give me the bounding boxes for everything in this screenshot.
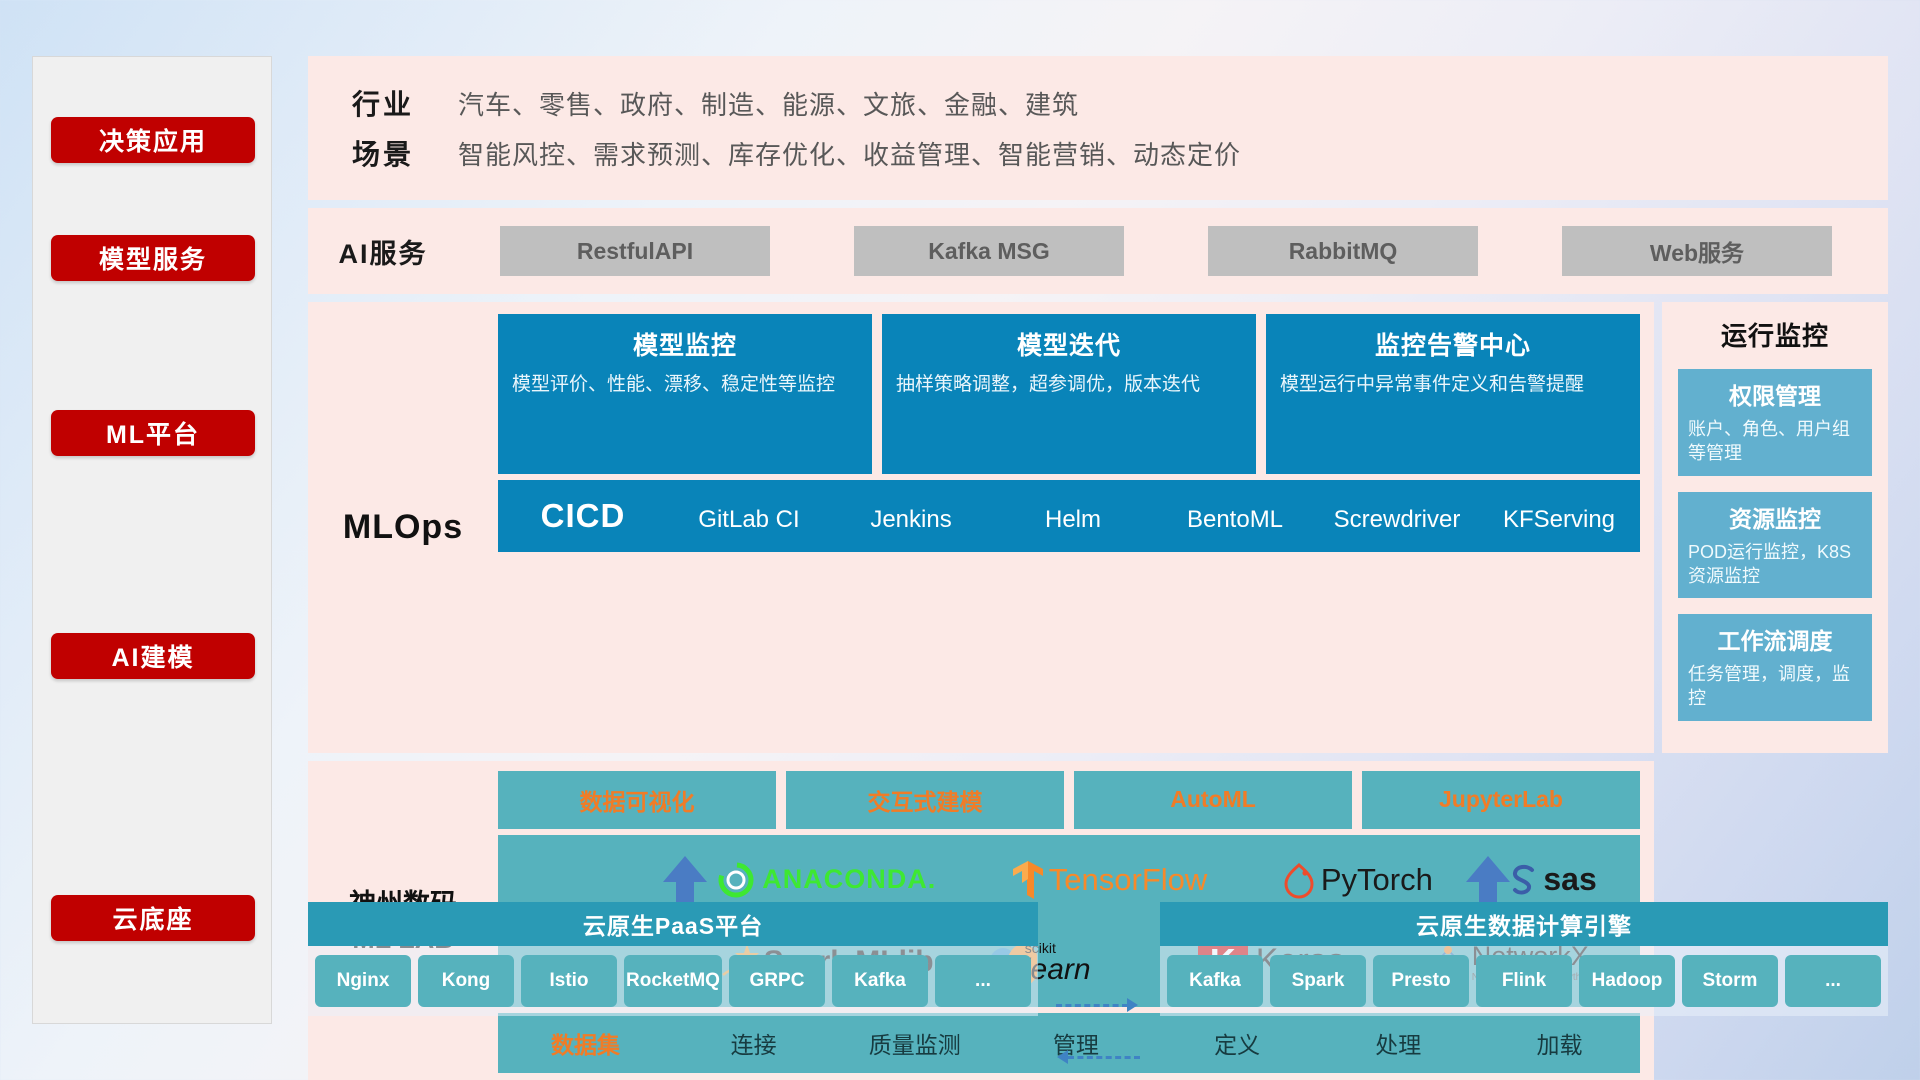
band-cloud-foundation: 云原生PaaS平台 Nginx Kong Istio RocketMQ GRPC… [308,856,1888,1026]
dataset-label: 数据集 [498,1026,673,1060]
engine-chip-kafka[interactable]: Kafka [1167,955,1263,1007]
mlops-label: MLOps [308,314,498,741]
cicd-item-screwdriver[interactable]: Screwdriver [1316,505,1478,535]
ai-service-chip-track: RestfulAPI Kafka MSG RabbitMQ Web服务 [458,226,1888,276]
dataset-item-connect[interactable]: 连接 [673,1026,834,1060]
rail-chip-ml-platform[interactable]: ML平台 [51,410,255,456]
engine-chip-track: Kafka Spark Presto Flink Hadoop Storm ..… [1160,946,1888,1016]
dataset-item-load[interactable]: 加载 [1479,1026,1640,1060]
dash-connector-left [1068,1056,1140,1059]
rail-chip-label: 模型服务 [99,240,207,276]
mlops-card-row: 模型监控 模型评价、性能、漂移、稳定性等监控 模型迭代 抽样策略调整，超参调优，… [498,314,1640,474]
ai-service-chip-restfulapi[interactable]: RestfulAPI [500,226,770,276]
engine-chip-more[interactable]: ... [1785,955,1881,1007]
monitor-card-resource[interactable]: 资源监控 POD运行监控，K8S资源监控 [1678,492,1872,599]
ml-lab-tool-row: 数据可视化 交互式建模 AutoML JupyterLab [498,771,1640,829]
cloud-group-paas: 云原生PaaS平台 Nginx Kong Istio RocketMQ GRPC… [308,902,1038,1016]
band-mlops: MLOps 模型监控 模型评价、性能、漂移、稳定性等监控 模型迭代 抽样策略调整… [308,302,1654,753]
card-desc: 账户、角色、用户组等管理 [1688,417,1862,466]
paas-chip-more[interactable]: ... [935,955,1031,1007]
cloud-group-engine: 云原生数据计算引擎 Kafka Spark Presto Flink Hadoo… [1160,902,1888,1016]
monitor-card-workflow[interactable]: 工作流调度 任务管理，调度，监控 [1678,614,1872,721]
paas-chip-nginx[interactable]: Nginx [315,955,411,1007]
band-ai-service: AI服务 RestfulAPI Kafka MSG RabbitMQ Web服务 [308,208,1888,294]
dataset-item-quality[interactable]: 质量监测 [834,1026,995,1060]
lab-tool-jupyterlab[interactable]: JupyterLab [1362,771,1640,829]
chip-label: RestfulAPI [577,238,693,265]
band-runtime-monitoring: 运行监控 权限管理 账户、角色、用户组等管理 资源监控 POD运行监控，K8S资… [1662,302,1888,753]
rail-chip-decision[interactable]: 决策应用 [51,117,255,163]
lab-tool-interactive-modeling[interactable]: 交互式建模 [786,771,1064,829]
ai-service-chip-web-service[interactable]: Web服务 [1562,226,1832,276]
paas-chip-kong[interactable]: Kong [418,955,514,1007]
chip-label: Web服务 [1650,234,1744,268]
mlops-card-model-monitoring[interactable]: 模型监控 模型评价、性能、漂移、稳定性等监控 [498,314,872,474]
dataset-item-process[interactable]: 处理 [1318,1026,1479,1060]
paas-title: 云原生PaaS平台 [308,902,1038,946]
paas-chip-istio[interactable]: Istio [521,955,617,1007]
ai-service-chip-kafka-msg[interactable]: Kafka MSG [854,226,1124,276]
dash-connector-right-head [1127,998,1138,1012]
rail-chip-ai-modeling[interactable]: AI建模 [51,633,255,679]
engine-chip-presto[interactable]: Presto [1373,955,1469,1007]
dash-connector-right [1056,1004,1128,1007]
paas-chip-track: Nginx Kong Istio RocketMQ GRPC Kafka ... [308,946,1038,1016]
paas-chip-grpc[interactable]: GRPC [729,955,825,1007]
rail-chip-model-service[interactable]: 模型服务 [51,235,255,281]
arrow-up-engine-head [1466,856,1510,882]
cicd-title: CICD [498,497,668,535]
engine-chip-hadoop[interactable]: Hadoop [1579,955,1675,1007]
engine-chip-flink[interactable]: Flink [1476,955,1572,1007]
cicd-item-gitlab-ci[interactable]: GitLab CI [668,505,830,535]
card-title: 模型监控 [512,326,858,362]
arrow-up-paas-head [663,856,707,882]
cicd-item-jenkins[interactable]: Jenkins [830,505,992,535]
mlops-stack: 模型监控 模型评价、性能、漂移、稳定性等监控 模型迭代 抽样策略调整，超参调优，… [498,314,1640,741]
cicd-item-track: GitLab CI Jenkins Helm BentoML Screwdriv… [668,497,1640,535]
card-desc: 模型评价、性能、漂移、稳定性等监控 [512,372,858,398]
card-title: 监控告警中心 [1280,326,1626,362]
dataset-item-manage[interactable]: 管理 [995,1026,1156,1060]
industry-label: 行业 [308,83,458,123]
scenario-value: 智能风控、需求预测、库存优化、收益管理、智能营销、动态定价 [458,135,1241,172]
row-mlops: MLOps 模型监控 模型评价、性能、漂移、稳定性等监控 模型迭代 抽样策略调整… [308,302,1888,753]
engine-title: 云原生数据计算引擎 [1160,902,1888,946]
engine-chip-spark[interactable]: Spark [1270,955,1366,1007]
mlops-card-alert-center[interactable]: 监控告警中心 模型运行中异常事件定义和告警提醒 [1266,314,1640,474]
rail-chip-label: AI建模 [111,638,194,674]
dataset-item-define[interactable]: 定义 [1157,1026,1318,1060]
chip-label: RabbitMQ [1289,238,1398,265]
monitor-card-permission[interactable]: 权限管理 账户、角色、用户组等管理 [1678,369,1872,476]
mlops-card-model-iteration[interactable]: 模型迭代 抽样策略调整，超参调优，版本迭代 [882,314,1256,474]
cicd-item-helm[interactable]: Helm [992,505,1154,535]
chip-label: Kafka MSG [928,238,1049,265]
cicd-item-kfserving[interactable]: KFServing [1478,505,1640,535]
paas-chip-kafka[interactable]: Kafka [832,955,928,1007]
card-title: 权限管理 [1688,377,1862,411]
layer-label-rail: 决策应用 模型服务 ML平台 AI建模 云底座 [32,56,272,1024]
card-title: 工作流调度 [1688,622,1862,656]
card-title: 资源监控 [1688,500,1862,534]
card-desc: 模型运行中异常事件定义和告警提醒 [1280,372,1626,398]
card-desc: POD运行监控，K8S资源监控 [1688,540,1862,589]
card-title: 模型迭代 [896,326,1242,362]
card-desc: 任务管理，调度，监控 [1688,662,1862,711]
industry-value: 汽车、零售、政府、制造、能源、文旅、金融、建筑 [458,85,1079,122]
ai-service-label: AI服务 [308,232,458,271]
rail-chip-label: 云底座 [112,900,193,936]
scenario-label: 场景 [308,133,458,173]
industry-row: 行业 汽车、零售、政府、制造、能源、文旅、金融、建筑 [308,78,1888,128]
rail-chip-label: ML平台 [106,415,200,451]
rail-chip-cloud-foundation[interactable]: 云底座 [51,895,255,941]
dataset-item-track: 连接 质量监测 管理 定义 处理 加载 [673,1026,1640,1060]
cicd-item-bentoml[interactable]: BentoML [1154,505,1316,535]
engine-chip-storm[interactable]: Storm [1682,955,1778,1007]
scenario-row: 场景 智能风控、需求预测、库存优化、收益管理、智能营销、动态定价 [308,128,1888,178]
band-decision-application: 行业 汽车、零售、政府、制造、能源、文旅、金融、建筑 场景 智能风控、需求预测、… [308,56,1888,200]
card-desc: 抽样策略调整，超参调优，版本迭代 [896,372,1242,398]
paas-chip-rocketmq[interactable]: RocketMQ [624,955,722,1007]
lab-tool-data-visualization[interactable]: 数据可视化 [498,771,776,829]
cicd-bar: CICD GitLab CI Jenkins Helm BentoML Scre… [498,480,1640,552]
rail-chip-label: 决策应用 [99,122,207,158]
monitor-title: 运行监控 [1678,316,1872,353]
dash-connector-left-head [1057,1050,1068,1064]
ai-service-chip-rabbitmq[interactable]: RabbitMQ [1208,226,1478,276]
lab-tool-automl[interactable]: AutoML [1074,771,1352,829]
